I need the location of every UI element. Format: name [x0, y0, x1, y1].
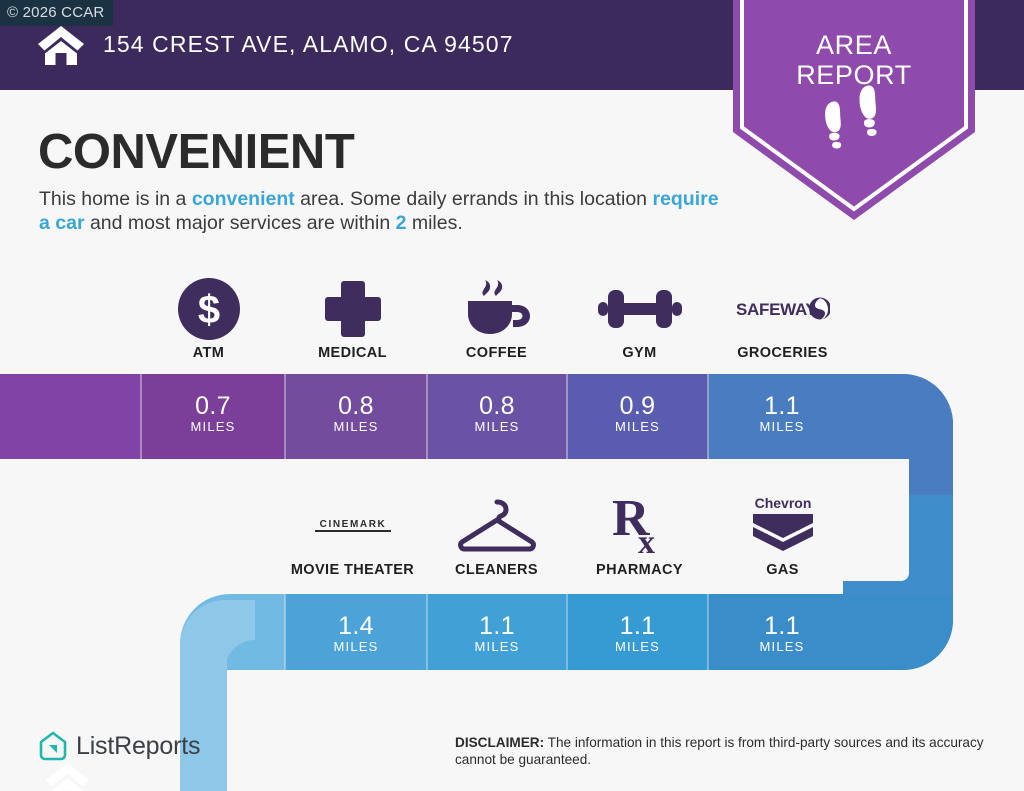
bar-cell-cleaners — [427, 585, 567, 705]
dumbbell-icon — [568, 278, 711, 340]
amenity-gym: GYM — [568, 278, 711, 361]
coffee-cup-icon — [425, 278, 568, 340]
amenity-medical: MEDICAL — [281, 278, 424, 361]
summary-part-2: area. Some daily errands in this locatio… — [295, 188, 653, 210]
dollar-circle-icon: $ — [137, 278, 280, 340]
summary-text: This home is in a convenient area. Some … — [39, 187, 729, 235]
amenity-label: GYM — [568, 345, 711, 361]
bar-cell-coffee — [427, 365, 567, 465]
distance-snake-bars — [0, 365, 1024, 791]
bar-cell-atm — [141, 365, 285, 465]
listreports-brand-name: ListReports — [76, 732, 200, 761]
amenity-atm: $ ATM — [137, 278, 280, 361]
summary-highlight-1: convenient — [192, 188, 295, 210]
row-2-bar — [170, 585, 1024, 705]
bar-cell-medical — [285, 365, 427, 465]
listreports-logo: ListReports — [38, 730, 200, 762]
medical-cross-icon — [281, 278, 424, 340]
safeway-logo: SAFEWAY — [711, 278, 854, 340]
snake-shape — [0, 365, 1024, 791]
svg-text:SAFEWAY: SAFEWAY — [736, 300, 817, 319]
copyright-badge: © 2026 CCAR — [0, 0, 113, 26]
summary-highlight-3: 2 — [396, 212, 407, 234]
disclaimer-label: DISCLAIMER: — [455, 735, 544, 750]
disclaimer: DISCLAIMER: The information in this repo… — [455, 734, 995, 768]
summary-part-1: This home is in a — [39, 188, 192, 210]
area-report-badge: AREA REPORT — [733, 0, 975, 220]
bar-cell-gas — [708, 585, 1024, 705]
badge-title: AREA REPORT — [733, 30, 975, 90]
badge-line-1: AREA — [733, 30, 975, 60]
listreports-house-icon — [38, 730, 68, 762]
svg-text:$: $ — [197, 288, 219, 332]
amenity-label: ATM — [137, 345, 280, 361]
bottom-left-tail — [180, 600, 255, 791]
amenity-label: MEDICAL — [281, 345, 424, 361]
amenity-groceries: SAFEWAY GROCERIES — [711, 278, 854, 361]
bar-cell-movie-theater — [285, 585, 427, 705]
summary-part-3: and most major services are within — [85, 212, 396, 234]
amenity-label: GROCERIES — [711, 345, 854, 361]
summary-part-4: miles. — [406, 212, 462, 234]
amenity-coffee: COFFEE — [425, 278, 568, 361]
bar-cell-pharmacy — [567, 585, 708, 705]
badge-line-2: REPORT — [733, 60, 975, 90]
bar-cell-gym — [567, 365, 708, 465]
home-marker-icon — [44, 761, 91, 791]
area-report-page: 154 CREST AVE, ALAMO, CA 94507 © 2026 CC… — [0, 0, 1024, 791]
amenity-label: COFFEE — [425, 345, 568, 361]
home-icon — [36, 24, 86, 66]
page-title: CONVENIENT — [38, 124, 354, 180]
bar-home-cell — [0, 365, 141, 465]
property-address: 154 CREST AVE, ALAMO, CA 94507 — [103, 31, 514, 58]
